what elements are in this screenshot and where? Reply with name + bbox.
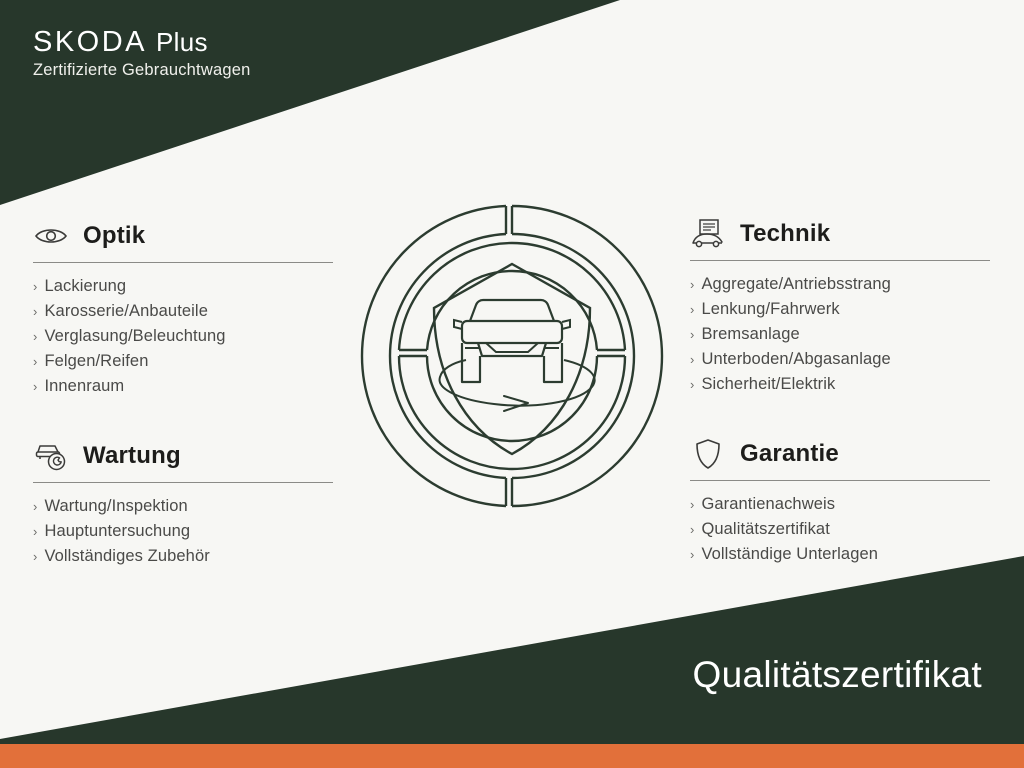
brand-subtitle: Zertifizierte Gebrauchtwagen <box>33 61 250 80</box>
brand-block: SKODA Plus Zertifizierte Gebrauchtwagen <box>33 26 250 80</box>
orange-accent-bar <box>0 744 1024 768</box>
list-item: ›Karosserie/Anbauteile <box>33 299 333 324</box>
chevron-right-icon: › <box>690 372 694 397</box>
list-item: ›Hauptuntersuchung <box>33 519 333 544</box>
section-garantie-header: Garantie <box>690 433 990 475</box>
list-item-label: Vollständige Unterlagen <box>701 542 878 567</box>
chevron-right-icon: › <box>690 492 694 517</box>
section-wartung-title: Wartung <box>83 442 181 470</box>
list-item: ›Aggregate/Antriebsstrang <box>690 272 990 297</box>
chevron-right-icon: › <box>33 519 37 544</box>
chevron-right-icon: › <box>33 544 37 569</box>
section-technik-header: Technik <box>690 213 990 255</box>
brand-wordmark: SKODA Plus <box>33 26 250 59</box>
list-item: ›Bremsanlage <box>690 322 990 347</box>
chevron-right-icon: › <box>690 297 694 322</box>
list-item-label: Hauptuntersuchung <box>44 519 190 544</box>
section-optik-header: Optik <box>33 215 333 257</box>
list-item: ›Vollständiges Zubehör <box>33 544 333 569</box>
chevron-right-icon: › <box>33 349 37 374</box>
section-garantie-title: Garantie <box>740 440 839 468</box>
section-technik-title: Technik <box>740 220 830 248</box>
list-item-label: Aggregate/Antriebsstrang <box>701 272 891 297</box>
car-wrench-icon <box>33 439 69 473</box>
shield-car-rings-icon <box>352 196 672 521</box>
section-technik-divider <box>690 260 990 261</box>
section-garantie: Garantie ›Garantienachweis ›Qualitätszer… <box>690 433 990 567</box>
list-item-label: Felgen/Reifen <box>44 349 148 374</box>
list-item: ›Lenkung/Fahrwerk <box>690 297 990 322</box>
list-item: ›Innenraum <box>33 374 333 399</box>
list-item: ›Sicherheit/Elektrik <box>690 372 990 397</box>
list-item: ›Wartung/Inspektion <box>33 494 333 519</box>
list-item-label: Vollständiges Zubehör <box>44 544 209 569</box>
chevron-right-icon: › <box>690 322 694 347</box>
page-title: Qualitätszertifikat <box>693 654 982 696</box>
chevron-right-icon: › <box>690 542 694 567</box>
section-optik-list: ›Lackierung ›Karosserie/Anbauteile ›Verg… <box>33 274 333 399</box>
list-item: ›Felgen/Reifen <box>33 349 333 374</box>
section-optik-divider <box>33 262 333 263</box>
chevron-right-icon: › <box>33 374 37 399</box>
list-item-label: Verglasung/Beleuchtung <box>44 324 225 349</box>
section-optik-title: Optik <box>83 222 145 250</box>
eye-icon <box>33 219 69 253</box>
section-garantie-list: ›Garantienachweis ›Qualitätszertifikat ›… <box>690 492 990 567</box>
list-item-label: Wartung/Inspektion <box>44 494 187 519</box>
list-item-label: Lenkung/Fahrwerk <box>701 297 839 322</box>
list-item: ›Verglasung/Beleuchtung <box>33 324 333 349</box>
section-technik-list: ›Aggregate/Antriebsstrang ›Lenkung/Fahrw… <box>690 272 990 397</box>
chevron-right-icon: › <box>690 272 694 297</box>
section-wartung-divider <box>33 482 333 483</box>
chevron-right-icon: › <box>690 517 694 542</box>
chevron-right-icon: › <box>33 494 37 519</box>
car-document-icon <box>690 217 726 251</box>
poster-canvas: SKODA Plus Zertifizierte Gebrauchtwagen … <box>0 0 1024 768</box>
list-item-label: Bremsanlage <box>701 322 799 347</box>
section-optik: Optik ›Lackierung ›Karosserie/Anbauteile… <box>33 215 333 399</box>
list-item-label: Sicherheit/Elektrik <box>701 372 835 397</box>
section-garantie-divider <box>690 480 990 481</box>
chevron-right-icon: › <box>33 274 37 299</box>
list-item: ›Vollständige Unterlagen <box>690 542 990 567</box>
section-wartung-header: Wartung <box>33 435 333 477</box>
list-item-label: Innenraum <box>44 374 124 399</box>
chevron-right-icon: › <box>33 299 37 324</box>
chevron-right-icon: › <box>690 347 694 372</box>
list-item-label: Lackierung <box>44 274 126 299</box>
list-item-label: Qualitätszertifikat <box>701 517 829 542</box>
list-item-label: Garantienachweis <box>701 492 835 517</box>
brand-suffix: Plus <box>156 27 208 58</box>
list-item: ›Garantienachweis <box>690 492 990 517</box>
section-wartung: Wartung ›Wartung/Inspektion ›Hauptunters… <box>33 435 333 569</box>
brand-name: SKODA <box>33 26 147 59</box>
list-item-label: Unterboden/Abgasanlage <box>701 347 890 372</box>
list-item: ›Qualitätszertifikat <box>690 517 990 542</box>
list-item: ›Unterboden/Abgasanlage <box>690 347 990 372</box>
list-item-label: Karosserie/Anbauteile <box>44 299 208 324</box>
list-item: ›Lackierung <box>33 274 333 299</box>
section-technik: Technik ›Aggregate/Antriebsstrang ›Lenku… <box>690 213 990 397</box>
shield-icon <box>690 437 726 471</box>
chevron-right-icon: › <box>33 324 37 349</box>
section-wartung-list: ›Wartung/Inspektion ›Hauptuntersuchung ›… <box>33 494 333 569</box>
